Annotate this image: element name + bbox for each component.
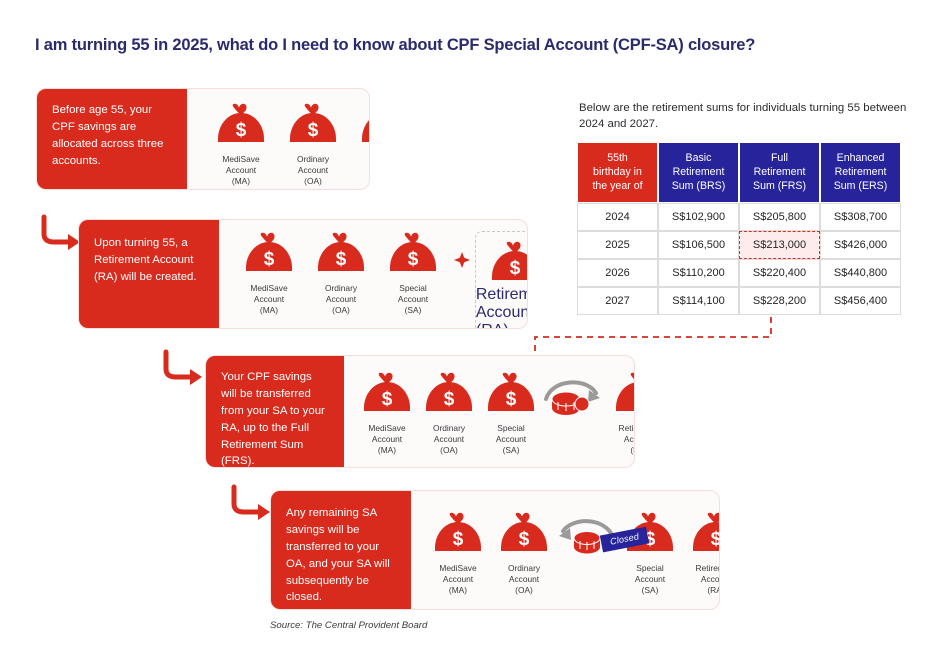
- step-2-text-box: Upon turning 55, a Retirement Account (R…: [79, 220, 219, 328]
- step-4-icons: $ MediSave Account (MA) $: [411, 491, 720, 609]
- money-bag-icon: $: [430, 511, 486, 557]
- step-3-text-box: Your CPF savings will be transferred fro…: [206, 356, 344, 467]
- svg-text:$: $: [634, 389, 635, 410]
- account-label: Ordinary Account (OA): [325, 283, 357, 316]
- account-retirement: $ Retirement Account (RA): [606, 371, 635, 456]
- step-4-text-box: Any remaining SA savings will be transfe…: [271, 491, 411, 609]
- cell-brs: S$110,200: [658, 259, 739, 287]
- money-bag-icon: $: [357, 102, 370, 148]
- cell-frs: S$205,800: [739, 203, 820, 231]
- account-label: Special Account (SA): [398, 283, 428, 316]
- cell-frs: S$220,400: [739, 259, 820, 287]
- coin-stack-icon: [552, 392, 589, 415]
- cell-frs: S$228,200: [739, 287, 820, 315]
- account-special: $ Special Account (SA): [349, 102, 370, 187]
- account-label: Retirement Account (RA): [619, 423, 635, 456]
- money-bag-icon: $: [359, 371, 415, 417]
- account-label: Retirement Account (RA): [696, 563, 720, 596]
- step-turning-55: Upon turning 55, a Retirement Account (R…: [78, 219, 528, 329]
- step-2-icons: $ MediSave Account (MA) $: [219, 220, 528, 328]
- money-bag-icon: $: [313, 231, 369, 277]
- cell-ers: S$440,800: [820, 259, 901, 287]
- step-sa-to-ra-transfer: Your CPF savings will be transferred fro…: [205, 355, 635, 468]
- account-special: $ Special Account (SA) Closed: [617, 511, 683, 596]
- plus-icon: [449, 231, 475, 269]
- cell-brs: S$102,900: [658, 203, 739, 231]
- account-ordinary: $ Ordinary Account (OA): [418, 371, 480, 456]
- account-medisave: $ MediSave Account (MA): [356, 371, 418, 456]
- account-ordinary: $ Ordinary Account (OA): [305, 231, 377, 316]
- svg-text:$: $: [519, 529, 530, 550]
- cell-brs: S$106,500: [658, 231, 739, 259]
- svg-text:$: $: [264, 249, 275, 270]
- account-label: Special Account (SA): [635, 563, 665, 596]
- account-special: $ Special Account (SA): [377, 231, 449, 316]
- table-intro-text: Below are the retirement sums for indivi…: [579, 100, 909, 132]
- cell-year: 2027: [577, 287, 658, 315]
- page-title: I am turning 55 in 2025, what do I need …: [35, 36, 755, 55]
- account-medisave: $ MediSave Account (MA): [233, 231, 305, 316]
- account-retirement: $ Retirement Account (RA): [683, 511, 720, 596]
- coin-stack-icon: [574, 532, 600, 554]
- svg-text:$: $: [510, 258, 521, 279]
- table-row: 2027 S$114,100 S$228,200 S$456,400: [577, 287, 901, 315]
- cell-year: 2025: [577, 231, 658, 259]
- table-header-frs: FullRetirementSum (FRS): [739, 142, 820, 203]
- cell-frs-highlighted: S$213,000: [739, 231, 820, 259]
- money-bag-icon: $: [241, 231, 297, 277]
- money-bag-icon: $: [487, 240, 528, 286]
- svg-text:$: $: [382, 389, 393, 410]
- account-label: MediSave Account (MA): [250, 283, 287, 316]
- cell-brs: S$114,100: [658, 287, 739, 315]
- account-label: Retirement Account (RA): [476, 286, 528, 329]
- infographic-page: I am turning 55 in 2025, what do I need …: [0, 0, 940, 665]
- step-sa-closure: Any remaining SA savings will be transfe…: [270, 490, 720, 610]
- step-1-icons: $ MediSave Account (MA) $: [187, 89, 370, 189]
- retirement-account-box: $ Retirement Account (RA): [475, 231, 528, 329]
- table-row: 2025 S$106,500 S$213,000 S$426,000: [577, 231, 901, 259]
- account-label: MediSave Account (MA): [222, 154, 259, 187]
- money-bag-icon: $: [385, 231, 441, 277]
- money-bag-icon: $: [483, 371, 539, 417]
- table-row: 2024 S$102,900 S$205,800 S$308,700: [577, 203, 901, 231]
- account-medisave: $ MediSave Account (MA): [205, 102, 277, 187]
- account-label: MediSave Account (MA): [439, 563, 476, 596]
- retirement-sums-table: 55thbirthday inthe year of BasicRetireme…: [577, 142, 901, 315]
- cell-year: 2026: [577, 259, 658, 287]
- svg-text:$: $: [236, 120, 247, 141]
- svg-text:$: $: [444, 389, 455, 410]
- money-bag-icon: $: [496, 511, 552, 557]
- account-medisave: $ MediSave Account (MA): [425, 511, 491, 596]
- cell-ers: S$426,000: [820, 231, 901, 259]
- money-bag-icon: $: [688, 511, 720, 557]
- money-bag-icon: $: [611, 371, 635, 417]
- table-header-row: 55thbirthday inthe year of BasicRetireme…: [577, 142, 901, 203]
- step-3-icons: $ MediSave Account (MA) $: [344, 356, 635, 467]
- money-bag-icon: $: [421, 371, 477, 417]
- svg-text:$: $: [453, 529, 464, 550]
- cell-ers: S$456,400: [820, 287, 901, 315]
- cell-ers: S$308,700: [820, 203, 901, 231]
- money-bag-icon: $: [285, 102, 341, 148]
- account-ordinary: $ Ordinary Account (OA): [277, 102, 349, 187]
- table-header-brs: BasicRetirementSum (BRS): [658, 142, 739, 203]
- table-header-year: 55thbirthday inthe year of: [577, 142, 658, 203]
- transfer-right-arrow-icon: [542, 371, 606, 449]
- account-ordinary: $ Ordinary Account (OA): [491, 511, 557, 596]
- connector-arrow-2: [160, 349, 208, 394]
- account-special: $ Special Account (SA): [480, 371, 542, 456]
- table-header-ers: EnhancedRetirementSum (ERS): [820, 142, 901, 203]
- source-note: Source: The Central Provident Board: [270, 620, 427, 631]
- svg-text:$: $: [336, 249, 347, 270]
- svg-text:$: $: [408, 249, 419, 270]
- step-before-55: Before age 55, your CPF savings are allo…: [36, 88, 370, 190]
- table-row: 2026 S$110,200 S$220,400 S$440,800: [577, 259, 901, 287]
- account-label: Special Account (SA): [496, 423, 526, 456]
- svg-text:$: $: [308, 120, 319, 141]
- account-label: Ordinary Account (OA): [433, 423, 465, 456]
- cell-year: 2024: [577, 203, 658, 231]
- step-1-text-box: Before age 55, your CPF savings are allo…: [37, 89, 187, 189]
- account-label: MediSave Account (MA): [368, 423, 405, 456]
- svg-text:$: $: [711, 529, 720, 550]
- account-label: Ordinary Account (OA): [508, 563, 540, 596]
- connector-arrow-3: [228, 484, 276, 529]
- money-bag-icon: $: [213, 102, 269, 148]
- account-label: Ordinary Account (OA): [297, 154, 329, 187]
- svg-text:$: $: [506, 389, 517, 410]
